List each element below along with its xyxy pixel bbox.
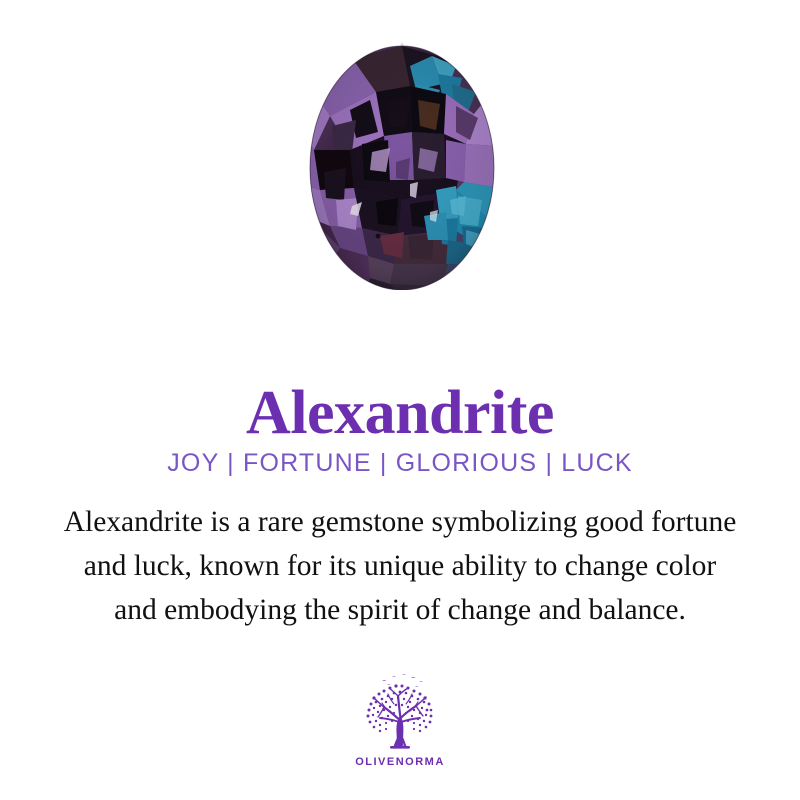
- brand-logo: OLIVENORMA: [0, 672, 800, 768]
- description-line-2: and luck, known for its unique ability t…: [34, 544, 766, 588]
- gemstone-svg: [306, 40, 498, 290]
- gemstone-info-card: Alexandrite JOY | FORTUNE | GLORIOUS | L…: [0, 0, 800, 800]
- alexandrite-gemstone-image: [306, 40, 498, 290]
- brand-name: OLIVENORMA: [355, 756, 445, 768]
- gem-facets: [306, 40, 498, 290]
- tree-of-life-icon: [352, 672, 448, 754]
- description-paragraph: Alexandrite is a rare gemstone symbolizi…: [34, 500, 766, 632]
- keyword-subtitle: JOY | FORTUNE | GLORIOUS | LUCK: [0, 448, 800, 478]
- page-title: Alexandrite: [0, 378, 800, 448]
- description-line-1: Alexandrite is a rare gemstone symbolizi…: [34, 500, 766, 544]
- description-line-3: and embodying the spirit of change and b…: [34, 588, 766, 632]
